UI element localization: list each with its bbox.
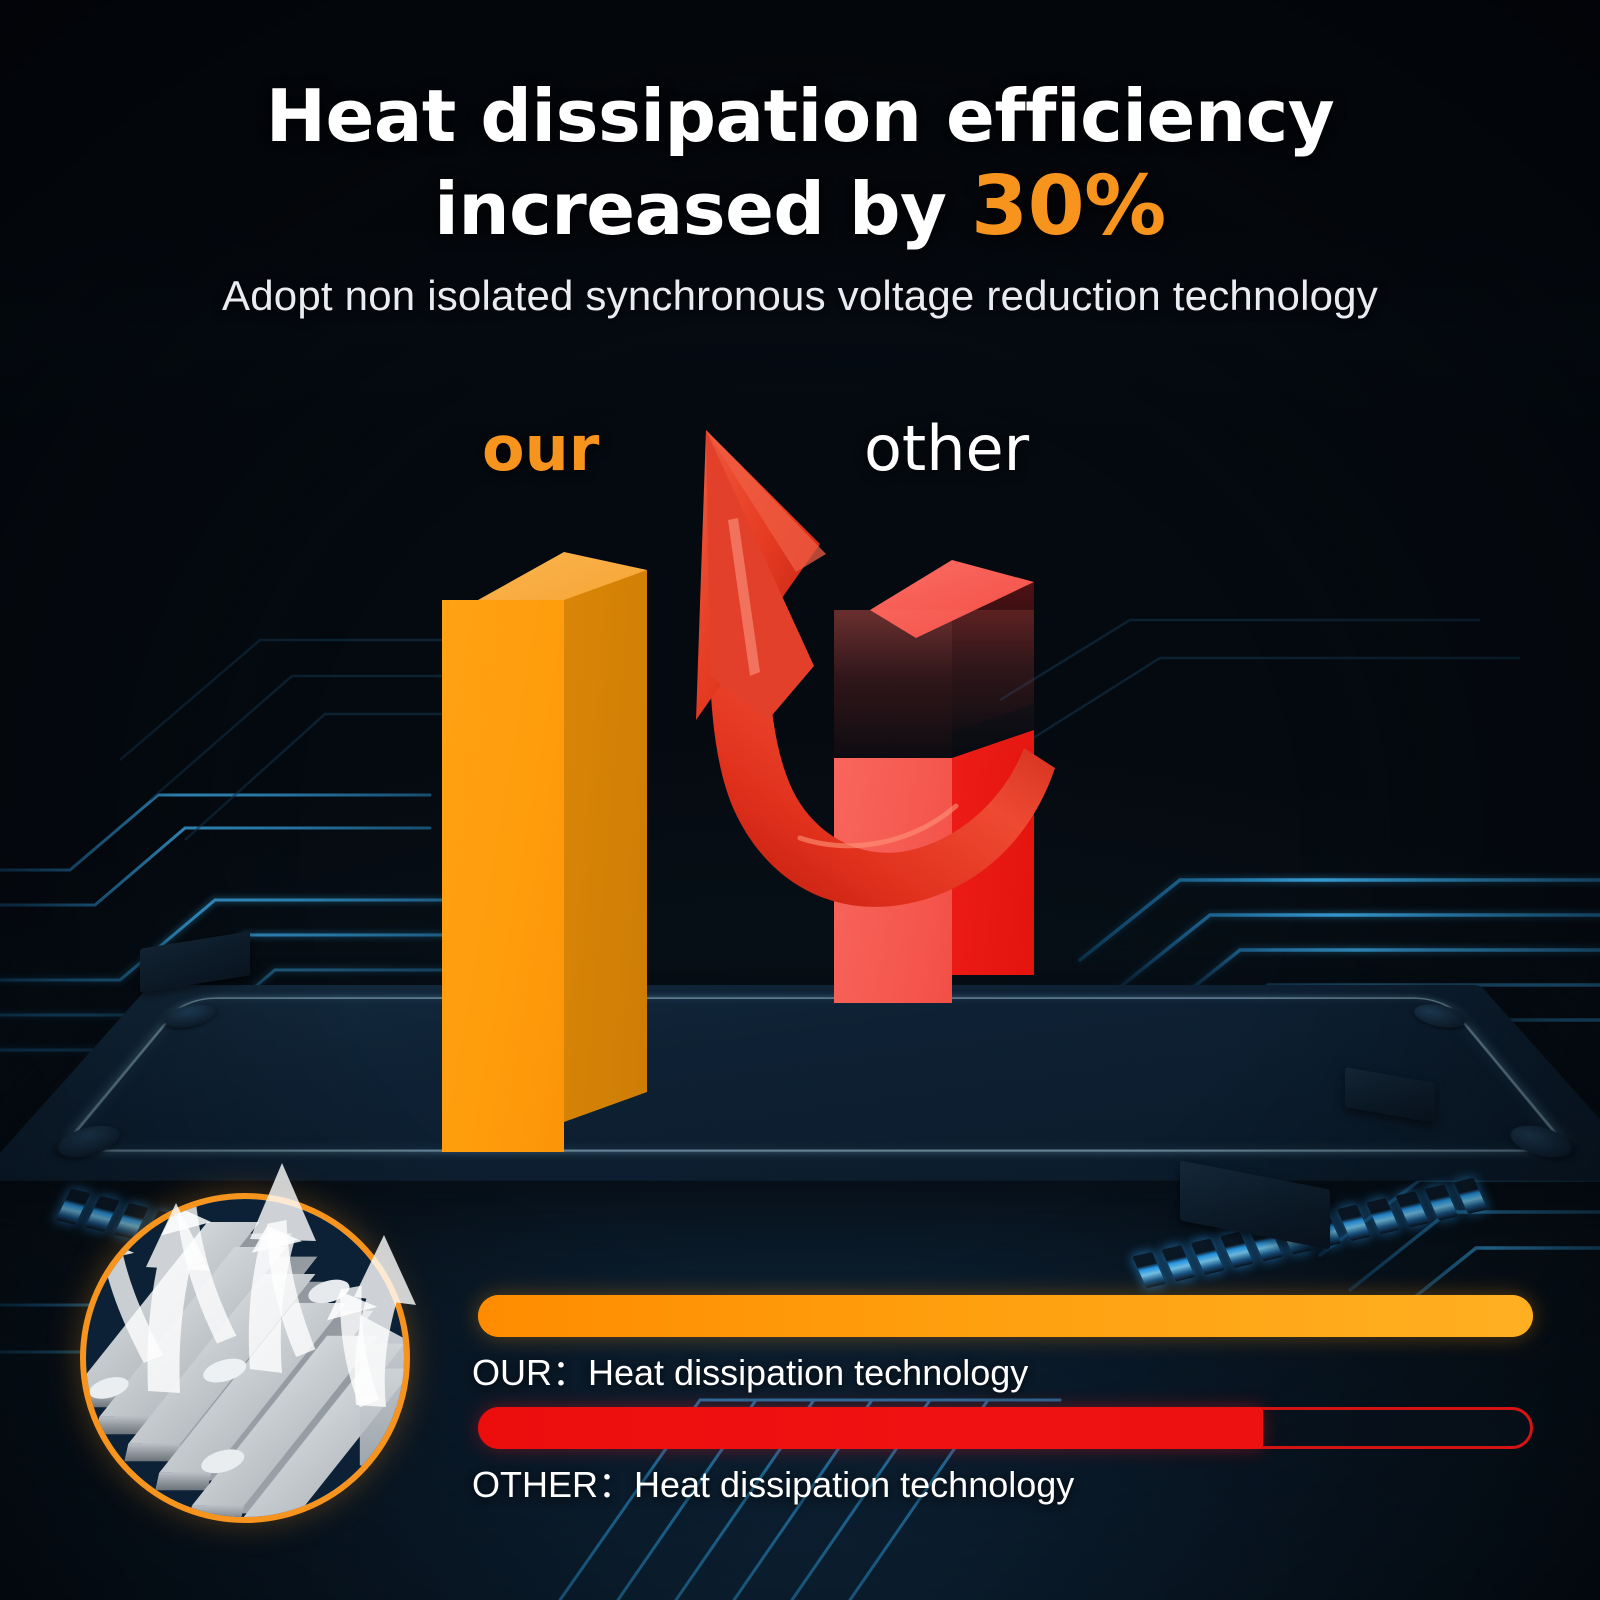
board-screw — [1501, 1126, 1582, 1158]
bar-our-front-face — [442, 600, 564, 1152]
progress-track-other[interactable] — [478, 1407, 1533, 1449]
heatsink-inset-circle — [80, 1193, 410, 1523]
infographic-canvas: Heat dissipation efficiency increased by… — [0, 0, 1600, 1600]
progress-fill-other — [478, 1407, 1263, 1449]
growth-arrow-icon — [600, 408, 1080, 1148]
title-highlight-percent: 30% — [971, 159, 1166, 254]
progress-fill-our — [478, 1295, 1533, 1337]
bar-label-our: our — [482, 412, 599, 485]
progress-track-our[interactable] — [478, 1295, 1533, 1337]
title-line-1: Heat dissipation efficiency — [266, 74, 1335, 158]
progress-caption-our: OUR：Heat dissipation technology — [472, 1344, 1028, 1396]
heatsink-illustration — [80, 1193, 410, 1523]
progress-caption-other: OTHER：Heat dissipation technology — [472, 1456, 1074, 1508]
page-title: Heat dissipation efficiency increased by… — [0, 74, 1600, 256]
title-line-2-prefix: increased by — [434, 167, 971, 251]
page-subtitle: Adopt non isolated synchronous voltage r… — [0, 272, 1600, 320]
